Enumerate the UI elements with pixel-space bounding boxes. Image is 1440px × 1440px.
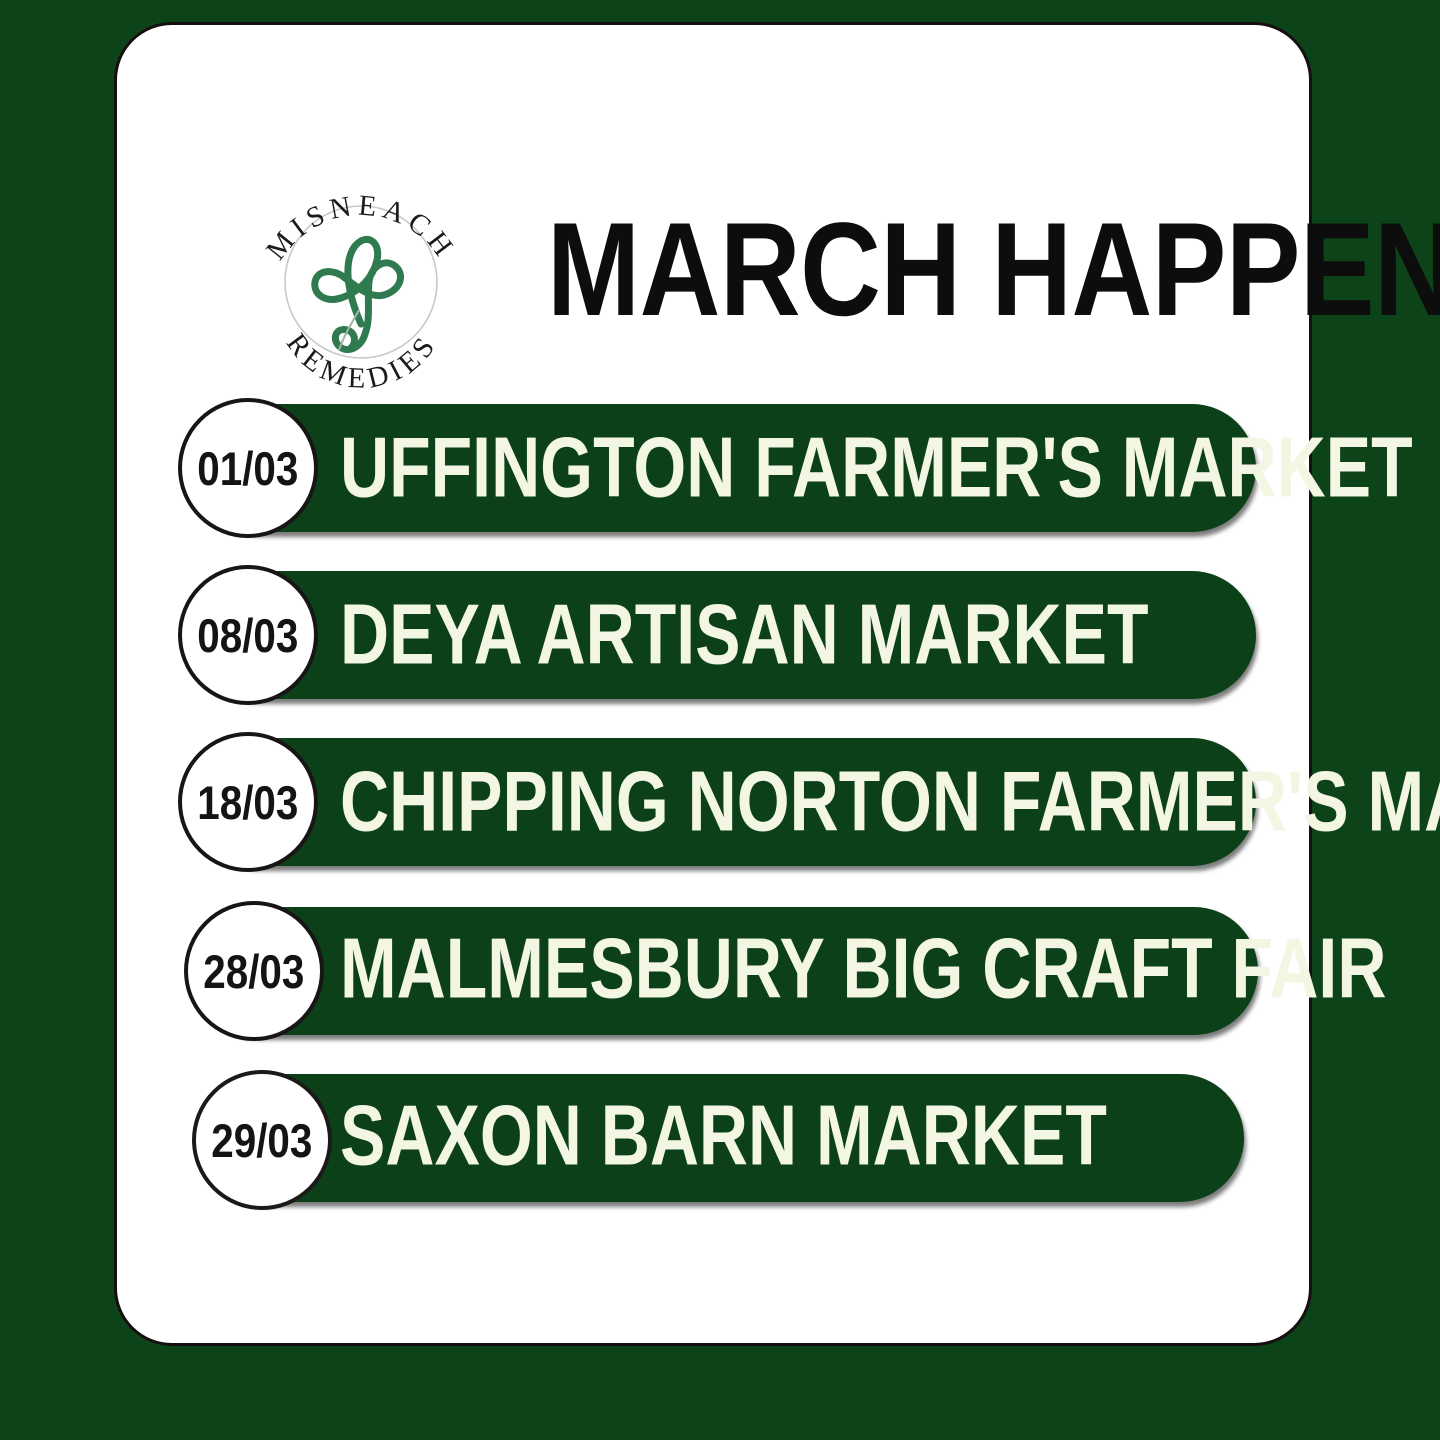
list-item[interactable]: SAXON BARN MARKET 29/03 bbox=[0, 1066, 1440, 1206]
event-name: SAXON BARN MARKET bbox=[340, 1094, 1107, 1179]
event-date-text: 29/03 bbox=[211, 1117, 312, 1164]
event-date-text: 28/03 bbox=[203, 948, 304, 995]
poster-canvas: MISNEACH REMEDIES MARCH HAPPENINGS UFFIN… bbox=[0, 0, 1440, 1440]
event-date-text: 01/03 bbox=[197, 445, 298, 492]
page-title: MARCH HAPPENINGS bbox=[547, 200, 1337, 340]
misneach-remedies-logo: MISNEACH REMEDIES bbox=[255, 142, 467, 404]
event-name: MALMESBURY BIG CRAFT FAIR bbox=[340, 927, 1386, 1012]
event-name: DEYA ARTISAN MARKET bbox=[340, 593, 1149, 678]
list-item[interactable]: DEYA ARTISAN MARKET 08/03 bbox=[0, 565, 1440, 705]
event-date-text: 18/03 bbox=[197, 779, 298, 826]
event-name: CHIPPING NORTON FARMER'S MARKET bbox=[340, 760, 1440, 845]
event-date-text: 08/03 bbox=[197, 612, 298, 659]
event-list: UFFINGTON FARMER'S MARKET 01/03 DEYA ART… bbox=[0, 398, 1440, 1233]
event-date-badge: 18/03 bbox=[178, 732, 318, 872]
list-item[interactable]: MALMESBURY BIG CRAFT FAIR 28/03 bbox=[0, 899, 1440, 1039]
event-date-badge: 08/03 bbox=[178, 565, 318, 705]
event-date-badge: 28/03 bbox=[184, 901, 324, 1041]
list-item[interactable]: CHIPPING NORTON FARMER'S MARKET 18/03 bbox=[0, 732, 1440, 872]
event-date-badge: 01/03 bbox=[178, 398, 318, 538]
event-date-badge: 29/03 bbox=[192, 1070, 332, 1210]
list-item[interactable]: UFFINGTON FARMER'S MARKET 01/03 bbox=[0, 398, 1440, 538]
event-name: UFFINGTON FARMER'S MARKET bbox=[340, 426, 1413, 511]
page-title-text: MARCH HAPPENINGS bbox=[547, 204, 1440, 337]
